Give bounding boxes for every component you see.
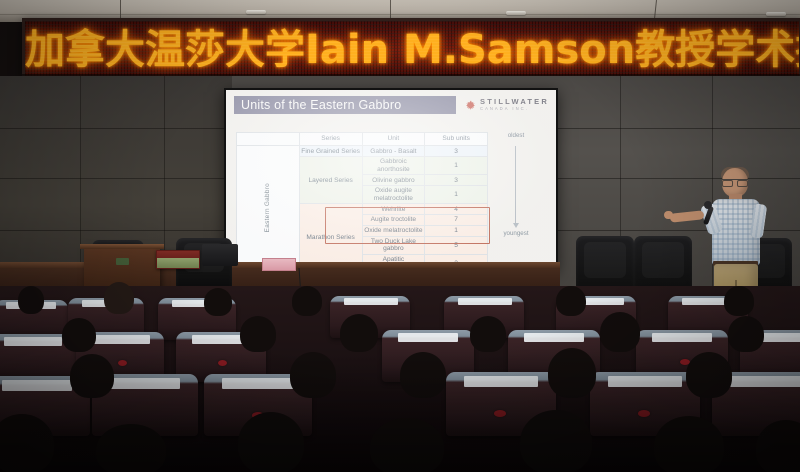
unit-cell: Wehrlite (362, 204, 425, 215)
unit-cell: Gabbro - Basalt (362, 146, 425, 157)
seat-cover (2, 380, 72, 391)
audience-head (204, 288, 232, 316)
audience-head (728, 316, 764, 352)
speaker-hand (664, 211, 673, 219)
ceiling-light-3 (766, 12, 786, 16)
sub-cell: 1 (425, 157, 488, 175)
unit-cell: Oxide augite melatroctolite (362, 186, 425, 204)
audience-head (62, 318, 96, 352)
led-banner: 加拿大温莎大学Iain M.Samson教授学术报 (22, 18, 800, 82)
sub-cell: 4 (425, 204, 488, 215)
sub-cell: 3 (425, 146, 488, 157)
audience-head (724, 286, 754, 316)
seat-cover (608, 376, 682, 387)
audience-head (686, 352, 732, 398)
audience-head (292, 286, 322, 316)
audience-head (340, 314, 378, 352)
logo-subtitle: CANADA INC. (480, 106, 549, 112)
unit-cell: Two Duck Lake gabbro (362, 236, 425, 254)
age-youngest-label: youngest (494, 230, 538, 237)
sub-cell: 7 (425, 215, 488, 226)
seat-cover (92, 335, 150, 344)
podium-top (80, 244, 164, 249)
unit-cell: Gabbroic anorthosite (362, 157, 425, 175)
seat-cover (110, 378, 180, 389)
seat-cover (458, 298, 512, 305)
ceiling-light-1 (246, 10, 266, 14)
audience-head (96, 424, 166, 472)
series-cell: Fine Grained Series (299, 146, 362, 157)
seat-number-badge (218, 360, 227, 366)
glasses-icon (722, 179, 748, 185)
slide-title-bar: Units of the Eastern Gabbro (234, 96, 456, 114)
laptop (202, 244, 238, 266)
seat-cover (398, 333, 458, 342)
seat-cover (344, 298, 398, 305)
audience-head (240, 316, 276, 352)
sub-cell: 1 (425, 225, 488, 236)
seat-number-badge (638, 410, 650, 417)
podium-plate (116, 258, 129, 265)
group-label-cell: Eastern Gabbro (237, 146, 300, 268)
unit-cell: Augite troctolite (362, 215, 425, 226)
seat-cover (222, 378, 294, 389)
table-row: Eastern Gabbro Fine Grained Series Gabbr… (237, 146, 488, 157)
audience-head (556, 286, 586, 316)
age-oldest-label: oldest (494, 132, 538, 139)
audience-head (370, 418, 444, 472)
series-cell: Layered Series (299, 157, 362, 204)
presentation-slide: Units of the Eastern Gabbro STILLWATER C… (226, 90, 556, 268)
unit-cell: Olivine gabbro (362, 175, 425, 186)
logo-name: STILLWATER (480, 98, 549, 106)
audience-head (470, 316, 506, 352)
header-series: Series (299, 133, 362, 146)
audience-head (238, 412, 304, 472)
ceiling-light-2 (506, 11, 526, 15)
age-axis: oldest youngest (494, 132, 538, 244)
series-cell: Marathon Series (299, 204, 362, 268)
audience-head (520, 410, 592, 472)
audience-head (548, 348, 596, 398)
audience-head (654, 416, 724, 472)
age-arrow-icon (515, 146, 516, 224)
header-unit: Unit (362, 133, 425, 146)
header-blank (237, 133, 300, 146)
seat-cover (464, 376, 538, 387)
stillwater-logo: STILLWATER CANADA INC. (465, 96, 549, 114)
ceiling-cable-2 (390, 0, 391, 18)
audience-head (400, 352, 446, 398)
audience-head (104, 282, 134, 314)
sub-cell: 5 (425, 236, 488, 254)
slide-title: Units of the Eastern Gabbro (234, 98, 401, 112)
ceiling-cable-1 (120, 0, 121, 20)
sub-cell: 1 (425, 186, 488, 204)
header-subunits: Sub units (425, 133, 488, 146)
seat-cover (730, 376, 800, 387)
seat-number-badge (118, 360, 127, 366)
lecture-hall-photo: 加拿大温莎大学Iain M.Samson教授学术报 Units of the E… (0, 0, 800, 472)
projection-screen: Units of the Eastern Gabbro STILLWATER C… (226, 90, 556, 268)
audience-head (290, 352, 336, 398)
geology-units-table: Series Unit Sub units Eastern Gabbro Fin… (236, 132, 488, 268)
seat-cover (4, 337, 62, 346)
name-card (262, 258, 296, 271)
sub-cell: 3 (425, 175, 488, 186)
seat-cover (652, 333, 712, 342)
microphone-head (704, 201, 712, 209)
seat-cover (524, 333, 584, 342)
seat-number-badge (494, 410, 506, 417)
wall-seam-v-1 (80, 76, 81, 291)
led-scanlines (25, 21, 799, 79)
maple-leaf-icon (465, 99, 477, 112)
audience-head (70, 354, 114, 398)
audience-head (18, 286, 44, 314)
decorative-box (156, 250, 200, 269)
group-label: Eastern Gabbro (264, 183, 271, 232)
unit-cell: Oxide melatroctolite (362, 225, 425, 236)
audience-head (600, 312, 640, 352)
table-header-row: Series Unit Sub units (237, 133, 488, 146)
